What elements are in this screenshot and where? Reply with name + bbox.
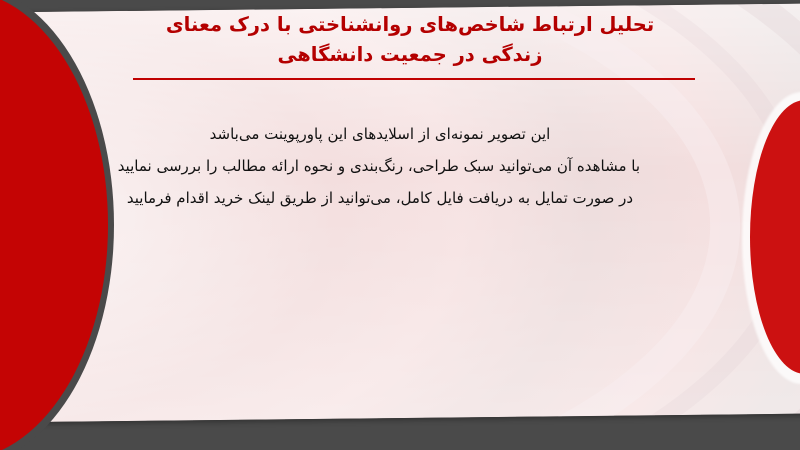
title-underline (133, 78, 695, 80)
slide-title: تحلیل ارتباط شاخص‌های روانشناختی با درک … (120, 10, 700, 70)
title-line-2: زندگی در جمعیت دانشگاهی (120, 40, 700, 70)
slide-body-text: این تصویر نمونه‌ای از اسلایدهای این پاور… (120, 118, 640, 214)
title-line-1: تحلیل ارتباط شاخص‌های روانشناختی با درک … (120, 10, 700, 40)
body-line-2: با مشاهده آن می‌توانید سبک طراحی، رنگ‌بن… (120, 150, 640, 182)
presentation-slide: تحلیل ارتباط شاخص‌های روانشناختی با درک … (0, 0, 800, 450)
body-line-3: در صورت تمایل به دریافت فایل کامل، می‌تو… (120, 182, 640, 214)
body-line-1: این تصویر نمونه‌ای از اسلایدهای این پاور… (120, 118, 640, 150)
